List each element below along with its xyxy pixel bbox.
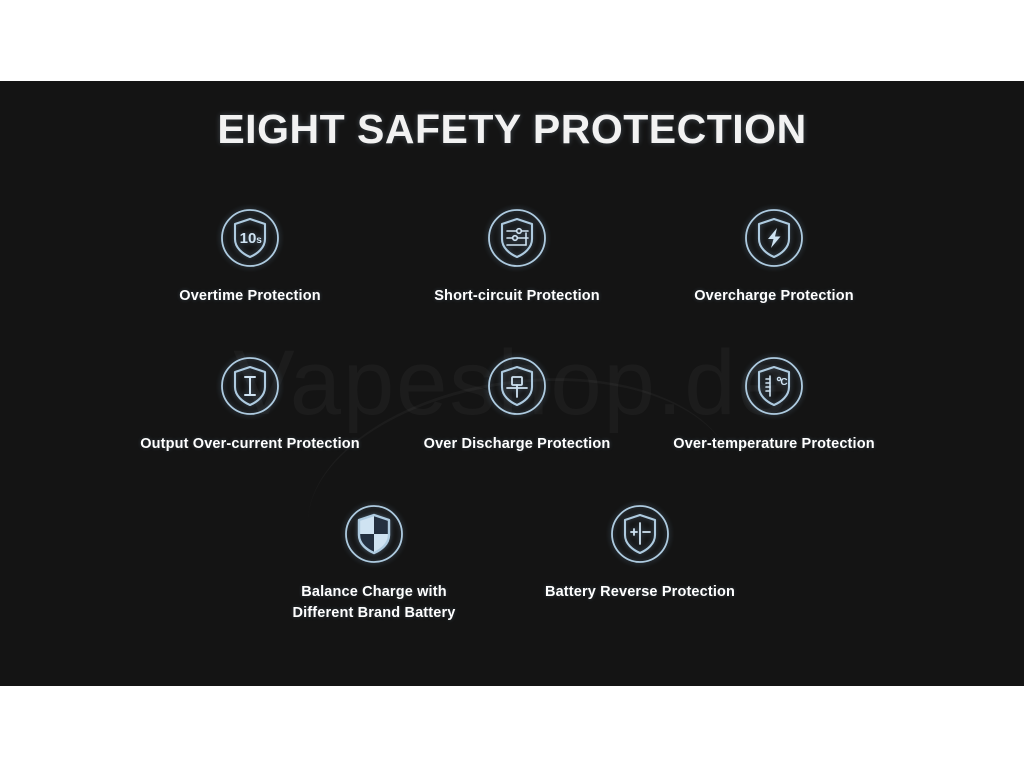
feature-label: Over Discharge Protection bbox=[367, 434, 667, 455]
feature-item-output-over-current-protection: Output Over-current Protection bbox=[100, 351, 400, 455]
feature-label: Overcharge Protection bbox=[624, 286, 924, 307]
feature-label: Output Over-current Protection bbox=[100, 434, 400, 455]
svg-text:C: C bbox=[780, 377, 787, 388]
slide-canvas: Vapeshop.de EIGHT SAFETY PROTECTION 10 s… bbox=[0, 0, 1024, 768]
svg-text:10: 10 bbox=[240, 230, 257, 247]
shield-checkered-balance-icon bbox=[339, 499, 409, 569]
svg-text:s: s bbox=[256, 235, 262, 246]
shield-polarity-plus-minus-icon bbox=[605, 499, 675, 569]
feature-item-over-discharge-protection: Over Discharge Protection bbox=[367, 351, 667, 455]
feature-label: Battery Reverse Protection bbox=[490, 582, 790, 603]
feature-item-overcharge-protection: Overcharge Protection bbox=[624, 203, 924, 307]
feature-label: Overtime Protection bbox=[100, 286, 400, 307]
feature-item-balance-charge: Balance Charge with Different Brand Batt… bbox=[224, 499, 524, 624]
feature-item-over-temperature-protection: C Over-temperature Protection bbox=[624, 351, 924, 455]
shield-thermometer-celsius-icon: C bbox=[739, 351, 809, 421]
shield-timer-10s-icon: 10 s bbox=[215, 203, 285, 273]
feature-item-short-circuit-protection: Short-circuit Protection bbox=[367, 203, 667, 307]
feature-item-battery-reverse-protection: Battery Reverse Protection bbox=[490, 499, 790, 603]
feature-label: Balance Charge with Different Brand Batt… bbox=[224, 582, 524, 624]
feature-label: Over-temperature Protection bbox=[624, 434, 924, 455]
features-grid: 10 s Overtime Protection bbox=[0, 81, 1024, 686]
shield-discharge-plug-icon bbox=[482, 351, 552, 421]
dark-content-panel: Vapeshop.de EIGHT SAFETY PROTECTION 10 s… bbox=[0, 81, 1024, 686]
feature-label: Short-circuit Protection bbox=[367, 286, 667, 307]
shield-lightning-bolt-icon bbox=[739, 203, 809, 273]
feature-item-overtime-protection: 10 s Overtime Protection bbox=[100, 203, 400, 307]
shield-current-i-icon bbox=[215, 351, 285, 421]
shield-circuit-icon bbox=[482, 203, 552, 273]
